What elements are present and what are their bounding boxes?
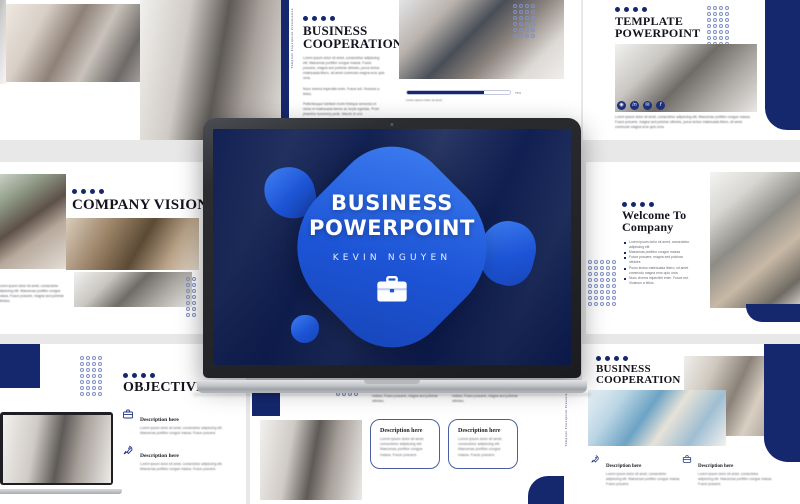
slide-title: COMPANY VISION (72, 197, 208, 213)
feature-row: Description here Lorem ipsum dolor sit a… (122, 444, 234, 472)
laptop-base (197, 380, 587, 393)
linkedin-icon[interactable]: in (630, 101, 639, 110)
facebook-icon[interactable]: f (656, 101, 665, 110)
navy-accent-block (746, 304, 800, 322)
dot-accents (596, 356, 628, 361)
photo-laptops (74, 272, 192, 307)
briefcase-icon (682, 454, 692, 464)
social-links[interactable]: ◉ in ✉ f (617, 101, 665, 110)
instagram-icon[interactable]: ◉ (617, 101, 626, 110)
photo-corridor (0, 0, 6, 84)
feature-desc: Lorem ipsum dolor sit amet, consectetur … (140, 462, 234, 472)
feature-title: Description here (140, 453, 179, 459)
slide-body-1: Lorem ipsum dolor sit amet, consectetur … (303, 56, 385, 81)
ring-dot-grid (513, 4, 535, 38)
slide-business-cooperation-bottom[interactable]: BUSINESS COOPERATION Description here Lo… (582, 344, 800, 504)
slide-body: Lorem ipsum dolor sit amet, consectetur … (0, 284, 68, 304)
slide-company-vision[interactable]: COMPANY VISION Lorem ipsum dolor sit ame… (0, 162, 222, 334)
dot-accents (303, 16, 335, 21)
slide-welcome-to-company[interactable]: Welcome To Company Lorem ipsum dolor sit… (586, 162, 800, 334)
photo-charts (588, 390, 726, 446)
list-item: Purus lectus malesuada libero, sit amet … (624, 266, 692, 276)
slide-description-cards[interactable]: Lorem ipsum dolor sit amet, consectetur … (250, 380, 590, 504)
progress-percent-label: 75% (515, 91, 521, 95)
laptop-notch (364, 380, 420, 384)
card-desc: Lorem ipsum dolor sit amet, consectetur … (380, 437, 430, 458)
ring-dot-grid (707, 6, 729, 46)
feature-desc: Lorem ipsum dolor sit amet, consectetur … (606, 472, 682, 486)
briefcase-icon (122, 408, 134, 420)
navy-left-block (0, 344, 40, 388)
slide-body: Lorem ipsum dolor sit amet, consectetur … (615, 115, 757, 130)
webcam-icon (390, 123, 393, 126)
feature-title: Description here (140, 417, 179, 423)
photo-team (399, 0, 564, 79)
photo-desk-work (66, 218, 199, 270)
feature-row: Description here Lorem ipsum dolor sit a… (590, 454, 682, 486)
progress-bar-row[interactable]: 75% (406, 90, 521, 95)
photo-scientist (710, 172, 800, 308)
feature-desc: Lorem ipsum dolor sit amet, consectetur … (140, 426, 234, 436)
list-item: Nunc viverra imperdiet enim. Fusce est. … (624, 276, 692, 286)
dot-accents (123, 373, 155, 378)
progress-caption: Lorem ipsum dolor sit amet (406, 98, 442, 102)
card-title: Description here (380, 428, 430, 434)
feature-desc: Lorem ipsum dolor sit amet, consectetur … (698, 472, 774, 486)
presentation-title-line2: POWERPOINT (309, 216, 475, 241)
card-title: Description here (458, 428, 508, 434)
slide-title-line2: POWERPOINT (615, 27, 700, 40)
briefcase-icon (376, 276, 408, 303)
title-slide-content: BUSINESS POWERPOINT KEVIN NGUYEN (213, 129, 571, 365)
feature-title: Description here (698, 464, 733, 469)
small-laptop-mockup (0, 412, 122, 494)
slide-title-line2: Company (622, 221, 673, 234)
photo-office (260, 420, 362, 500)
laptop-screen[interactable]: BUSINESS POWERPOINT KEVIN NGUYEN (213, 129, 571, 365)
laptop-shadow (193, 393, 591, 396)
slide-title-line2: COOPERATION (596, 375, 681, 387)
rocket-icon (590, 454, 600, 464)
list-item: Fusce posuere, magna sed pulvinar ultric… (624, 255, 692, 265)
dot-accents (72, 189, 104, 194)
description-card[interactable]: Description here Lorem ipsum dolor sit a… (370, 419, 440, 469)
navy-corner-block (765, 0, 800, 130)
slide-title-line2: COOPERATION (303, 37, 402, 51)
slide-gallery-canvas: Template Powerpoint Presentation BUSINES… (0, 0, 800, 500)
rocket-icon (122, 444, 134, 456)
navy-corner-block (764, 344, 800, 462)
progress-bar-track (406, 90, 511, 95)
card-desc: Lorem ipsum dolor sit amet, consectetur … (458, 437, 508, 458)
feature-bullet-list: Lorem ipsum dolor sit amet, consectetur … (624, 240, 692, 286)
feature-title: Description here (606, 464, 641, 469)
dot-accents (622, 202, 654, 207)
feature-row: Description here Lorem ipsum dolor sit a… (122, 408, 234, 436)
ring-dot-grid (80, 356, 102, 396)
dot-accents (615, 7, 647, 12)
slide-body-2: Nunc viverra imperdiet enim. Fusce est. … (303, 87, 385, 97)
presentation-author: KEVIN NGUYEN (333, 253, 452, 263)
list-item: Lorem ipsum dolor sit amet, consectetur … (624, 240, 692, 250)
side-label-left: Template Powerpoint Presentation (290, 8, 294, 68)
slide-business-cooperation-top[interactable]: Template Powerpoint Presentation BUSINES… (281, 0, 581, 134)
slide-template-powerpoint-right[interactable]: TEMPLATE POWERPOINT ◉ in ✉ f Lorem ipsum… (583, 0, 800, 140)
laptop-lid: BUSINESS POWERPOINT KEVIN NGUYEN (203, 118, 581, 378)
slide-body-3: Pellentesque habitant morbi tristique se… (303, 102, 385, 117)
macbook-mockup: BUSINESS POWERPOINT KEVIN NGUYEN (197, 118, 587, 393)
presentation-title-line1: BUSINESS (331, 191, 453, 216)
feature-row: Description here Lorem ipsum dolor sit a… (682, 454, 774, 486)
twitter-icon[interactable]: ✉ (643, 101, 652, 110)
ring-dot-grid (186, 277, 196, 317)
navy-left-strip (281, 0, 289, 134)
ring-dot-grid (588, 260, 616, 306)
photo-reading (0, 174, 66, 269)
description-card[interactable]: Description here Lorem ipsum dolor sit a… (448, 419, 518, 469)
progress-bar-fill (407, 91, 484, 94)
